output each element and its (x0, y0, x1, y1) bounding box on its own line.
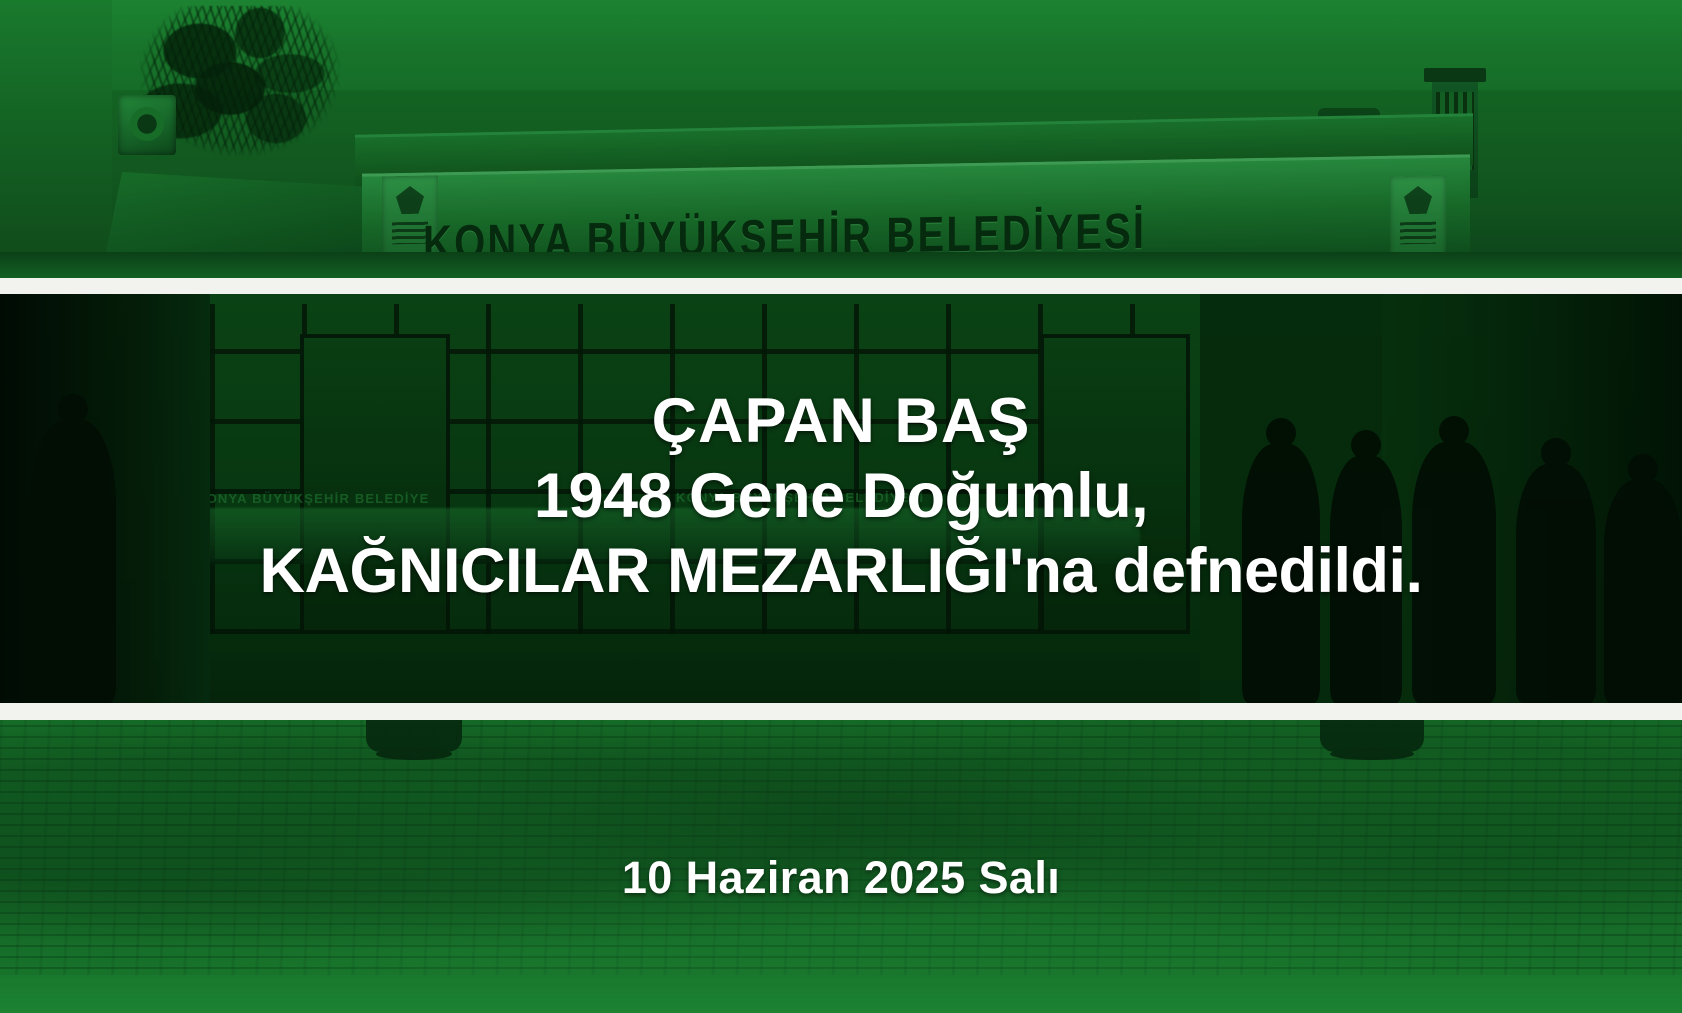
burial-place-line: KAĞNICILAR MEZARLIĞI'na defnedildi. (260, 538, 1423, 605)
left-building-block (0, 0, 112, 278)
deceased-name: ÇAPAN BAŞ (652, 388, 1031, 455)
burial-date: 10 Haziran 2025 Salı (622, 852, 1060, 904)
top-band-ground (0, 252, 1682, 278)
memorial-poster: KONYA BÜYÜKŞEHİR BELEDİYESİ KONYA BÜYÜKŞ… (0, 0, 1682, 1013)
headline-band: KONYA BÜYÜKŞEHİR BELEDİYE KONYA BÜYÜKŞEH… (0, 294, 1682, 703)
birth-year-line: 1948 Gene Doğumlu, (534, 463, 1148, 530)
divider-top (0, 278, 1682, 294)
top-photo-band: KONYA BÜYÜKŞEHİR BELEDİYESİ (0, 0, 1682, 278)
headline-text-block: ÇAPAN BAŞ 1948 Gene Doğumlu, KAĞNICILAR … (0, 294, 1682, 703)
date-text-block: 10 Haziran 2025 Salı (0, 720, 1682, 1013)
date-band: 10 Haziran 2025 Salı (0, 720, 1682, 1013)
divider-bottom (0, 703, 1682, 720)
